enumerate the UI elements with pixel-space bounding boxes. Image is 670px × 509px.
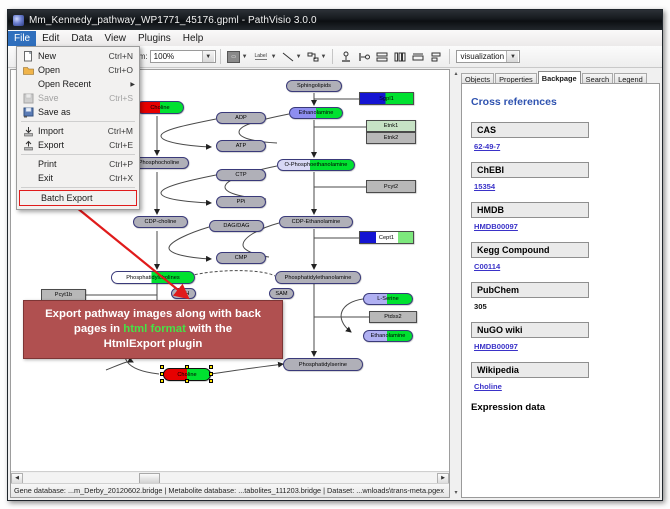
menu-item-import-label: Import: [35, 126, 108, 136]
xref-label-wikipedia: Wikipedia: [471, 362, 589, 378]
menu-item-new[interactable]: New Ctrl+N: [17, 49, 139, 63]
callout-line-2-prefix: pages in: [74, 323, 123, 335]
file-menu-popup[interactable]: New Ctrl+N Open Ctrl+O Open Recent ▶ Sav…: [16, 46, 140, 210]
callout-highlight: html format: [123, 323, 186, 335]
zoom-combobox[interactable]: 100% ▼: [150, 50, 216, 63]
expression-data-heading: Expression data: [471, 402, 650, 413]
xref-value-pubchem: 305: [474, 302, 650, 311]
node-cdp-ethanolamine[interactable]: CDP-Ethanolamine: [279, 216, 353, 228]
align-top-button[interactable]: [338, 49, 354, 65]
zoom-value: 100%: [154, 52, 174, 61]
gene-etnk1[interactable]: Etnk1: [366, 120, 416, 132]
menu-item-print-label: Print: [35, 159, 109, 169]
xref-value-hmdb[interactable]: HMDB00097: [474, 222, 650, 231]
align-left-icon: [358, 51, 370, 63]
menu-separator-2: [21, 154, 135, 155]
menu-view[interactable]: View: [98, 31, 132, 46]
resize-handle-ne[interactable]: [209, 365, 213, 369]
statusbar: Gene database: ...m_Derby_20120602.bridg…: [11, 483, 449, 497]
align-top-icon: [340, 51, 352, 63]
connector-tool-button[interactable]: [305, 49, 321, 65]
node-dag[interactable]: DAG/DAG: [209, 220, 264, 232]
tab-backpage[interactable]: Backpage: [538, 71, 581, 84]
xref-label-hmdb: HMDB: [471, 202, 589, 218]
xref-label-pubchem: PubChem: [471, 282, 589, 298]
xref-link-nugo[interactable]: HMDB00097: [474, 342, 518, 351]
node-phosphatidylethanolamine[interactable]: Phosphatidylethanolamine: [275, 271, 361, 284]
chevron-down-icon[interactable]: ▼: [202, 51, 214, 62]
connector-icon: [307, 52, 319, 62]
menu-data[interactable]: Data: [65, 31, 98, 46]
menu-separator-1: [21, 121, 135, 122]
menu-item-export-label: Export: [35, 140, 109, 150]
xref-link-wikipedia[interactable]: Choline: [474, 382, 502, 391]
stack-icon: [430, 51, 442, 63]
callout-line-2: pages in html format with the: [74, 322, 232, 337]
node-o-phosphoethanolamine[interactable]: O-Phosphoethanolamine: [277, 159, 355, 171]
callout-line-1: Export pathway images along with back: [45, 307, 261, 322]
menu-item-open-label: Open: [35, 65, 108, 75]
window-title: Mm_Kennedy_pathway_WP1771_45176.gpml - P…: [29, 15, 317, 26]
gene-etnk2[interactable]: Etnk2: [366, 132, 416, 144]
resize-handle-sw[interactable]: [160, 379, 164, 383]
xref-label-cas: CAS: [471, 122, 589, 138]
menu-item-import-accel: Ctrl+M: [108, 126, 135, 136]
align-left-button[interactable]: [356, 49, 372, 65]
xref-label-kegg: Kegg Compound: [471, 242, 589, 258]
menubar: File Edit Data View Plugins Help: [8, 30, 662, 47]
node-sphingolipids[interactable]: Sphingolipids: [286, 80, 342, 92]
scroll-left-arrow-icon[interactable]: ◀: [11, 473, 23, 484]
menu-item-exit[interactable]: Exit Ctrl+X: [17, 171, 139, 185]
visualization-value: visualization: [460, 52, 504, 61]
node-ctp[interactable]: CTP: [216, 169, 266, 181]
line-dropdown-icon[interactable]: ▼: [296, 54, 302, 60]
pathvisio-icon: [13, 15, 24, 26]
node-phosphatidylserine[interactable]: Phosphatidylserine: [283, 358, 363, 371]
align-center-button[interactable]: [374, 49, 390, 65]
distribute-button[interactable]: [392, 49, 408, 65]
node-choline[interactable]: Choline: [136, 101, 184, 114]
menu-item-open-accel: Ctrl+O: [108, 65, 135, 75]
new-document-icon: [21, 51, 35, 62]
node-cmp[interactable]: CMP: [216, 252, 266, 264]
callout-line-2-suffix: with the: [186, 323, 232, 335]
xref-link-chebi[interactable]: 15354: [474, 182, 495, 191]
node-ethanolamine[interactable]: Ethanolamine: [289, 107, 343, 119]
selected-node-group[interactable]: Choline: [163, 368, 211, 381]
panel-splitter[interactable]: ▴ ▾: [452, 69, 460, 498]
menu-item-save-label: Save: [35, 93, 109, 103]
menu-item-open-recent-label: Open Recent: [35, 79, 130, 89]
open-folder-icon: [21, 65, 35, 76]
import-icon: [21, 126, 35, 137]
label-dropdown-icon[interactable]: ▼: [271, 54, 277, 60]
backpage-content: Cross references CAS 62-49-7 ChEBI 15354…: [461, 83, 660, 498]
distribute-icon: [394, 51, 406, 63]
backpage-heading: Cross references: [471, 96, 650, 108]
resize-handle-e[interactable]: [209, 372, 213, 376]
node-atp[interactable]: ATP: [216, 140, 266, 152]
label-icon: Label: [255, 53, 267, 60]
node-cdp-choline[interactable]: CDP-choline: [133, 216, 188, 228]
menu-item-save: Save Ctrl+S: [17, 91, 139, 105]
label-tool-button[interactable]: Label: [251, 49, 271, 65]
connector-dropdown-icon[interactable]: ▼: [321, 54, 327, 60]
menu-item-print[interactable]: Print Ctrl+P: [17, 157, 139, 171]
menu-item-new-label: New: [35, 51, 109, 61]
menu-item-open[interactable]: Open Ctrl+O: [17, 63, 139, 77]
align-center-icon: [376, 51, 388, 63]
node-phosphatidylcholines[interactable]: Phosphatidylcholines: [111, 271, 195, 284]
menu-item-batch-export-label: Batch Export: [38, 193, 132, 203]
resize-handle-s[interactable]: [185, 379, 189, 383]
splitter-collapse-down-icon[interactable]: ▾: [454, 490, 457, 496]
shape-tool-button[interactable]: ▭: [226, 49, 242, 65]
gene-sgpl1[interactable]: Sgpl1: [359, 92, 414, 105]
side-panel: ▴ ▾ Objects Properties Backpage Search L…: [452, 69, 660, 498]
stack-button[interactable]: [428, 49, 444, 65]
menu-edit[interactable]: Edit: [36, 31, 65, 46]
annotation-callout: Export pathway images along with back pa…: [23, 300, 283, 359]
menu-item-batch-export[interactable]: Batch Export: [19, 190, 137, 206]
xref-label-nugo: NuGO wiki: [471, 322, 589, 338]
hscroll-thumb[interactable]: [139, 473, 160, 484]
menu-item-export[interactable]: Export Ctrl+E: [17, 138, 139, 152]
xref-value-kegg[interactable]: C00114: [474, 262, 650, 271]
hscroll-track[interactable]: [23, 473, 437, 484]
menu-item-new-accel: Ctrl+N: [109, 51, 135, 61]
menu-file[interactable]: File: [8, 31, 36, 46]
statusbar-text: Gene database: ...m_Derby_20120602.bridg…: [14, 486, 444, 495]
menu-item-exit-label: Exit: [35, 173, 109, 183]
splitter-collapse-up-icon[interactable]: ▴: [454, 71, 457, 77]
visualization-combobox[interactable]: visualization ▼: [456, 50, 520, 63]
menu-plugins[interactable]: Plugins: [132, 31, 177, 46]
window-titlebar: Mm_Kennedy_pathway_WP1771_45176.gpml - P…: [8, 10, 662, 30]
resize-handle-n[interactable]: [185, 365, 189, 369]
gene-ptdss2[interactable]: Ptdss2: [369, 311, 417, 323]
gene-pcyt2[interactable]: Pcyt2: [366, 180, 416, 193]
scroll-right-arrow-icon[interactable]: ▶: [437, 473, 449, 484]
common-width-button[interactable]: [410, 49, 426, 65]
menu-separator-3: [21, 187, 135, 188]
node-adp[interactable]: ADP: [216, 112, 266, 124]
line-tool-button[interactable]: [280, 49, 296, 65]
resize-handle-se[interactable]: [209, 379, 213, 383]
gene-cept1[interactable]: Cept1: [359, 231, 414, 244]
node-l-serine[interactable]: L-Serine: [363, 293, 413, 305]
menu-item-export-accel: Ctrl+E: [109, 140, 135, 150]
resize-handle-w[interactable]: [160, 372, 164, 376]
xref-value-chebi[interactable]: 15354: [474, 182, 650, 191]
screenshot-frame: Mm_Kennedy_pathway_WP1771_45176.gpml - P…: [0, 0, 670, 509]
shape-dropdown-icon[interactable]: ▼: [242, 54, 248, 60]
node-sam[interactable]: SAM: [269, 288, 294, 299]
node-ethanolamine-2[interactable]: Ethanolamine: [363, 330, 413, 342]
menu-item-exit-accel: Ctrl+X: [109, 173, 135, 183]
xref-link-cas[interactable]: 62-49-7: [474, 142, 500, 151]
xref-link-hmdb[interactable]: HMDB00097: [474, 222, 518, 231]
menu-item-save-as[interactable]: Save as: [17, 105, 139, 119]
callout-line-3: HtmlExport plugin: [104, 337, 203, 352]
export-icon: [21, 140, 35, 151]
toolbar-separator-2: [220, 49, 221, 64]
menu-item-open-recent[interactable]: Open Recent ▶: [17, 77, 139, 91]
xref-link-kegg[interactable]: C00114: [474, 262, 500, 271]
shape-icon: ▭: [227, 51, 240, 63]
pathvisio-window: Mm_Kennedy_pathway_WP1771_45176.gpml - P…: [7, 9, 663, 501]
toolbar-separator-3: [332, 49, 333, 64]
menu-help[interactable]: Help: [177, 31, 210, 46]
menu-item-save-accel: Ctrl+S: [109, 93, 135, 103]
toolbar-separator-4: [449, 49, 450, 64]
line-icon: [282, 52, 294, 62]
xref-label-chebi: ChEBI: [471, 162, 589, 178]
node-ppi[interactable]: PPi: [216, 196, 266, 208]
submenu-arrow-icon: ▶: [130, 81, 135, 88]
node-sah[interactable]: SAH: [171, 288, 196, 299]
xref-value-nugo[interactable]: HMDB00097: [474, 342, 650, 351]
save-disk-icon: [21, 93, 35, 104]
menu-item-save-as-label: Save as: [35, 107, 133, 117]
save-as-icon: [21, 107, 35, 118]
xref-value-cas[interactable]: 62-49-7: [474, 142, 650, 151]
chevron-down-icon-2[interactable]: ▼: [506, 51, 518, 62]
common-width-icon: [412, 51, 424, 63]
xref-value-wikipedia[interactable]: Choline: [474, 382, 650, 391]
menu-item-import[interactable]: Import Ctrl+M: [17, 124, 139, 138]
resize-handle-nw[interactable]: [160, 365, 164, 369]
menu-item-print-accel: Ctrl+P: [109, 159, 135, 169]
